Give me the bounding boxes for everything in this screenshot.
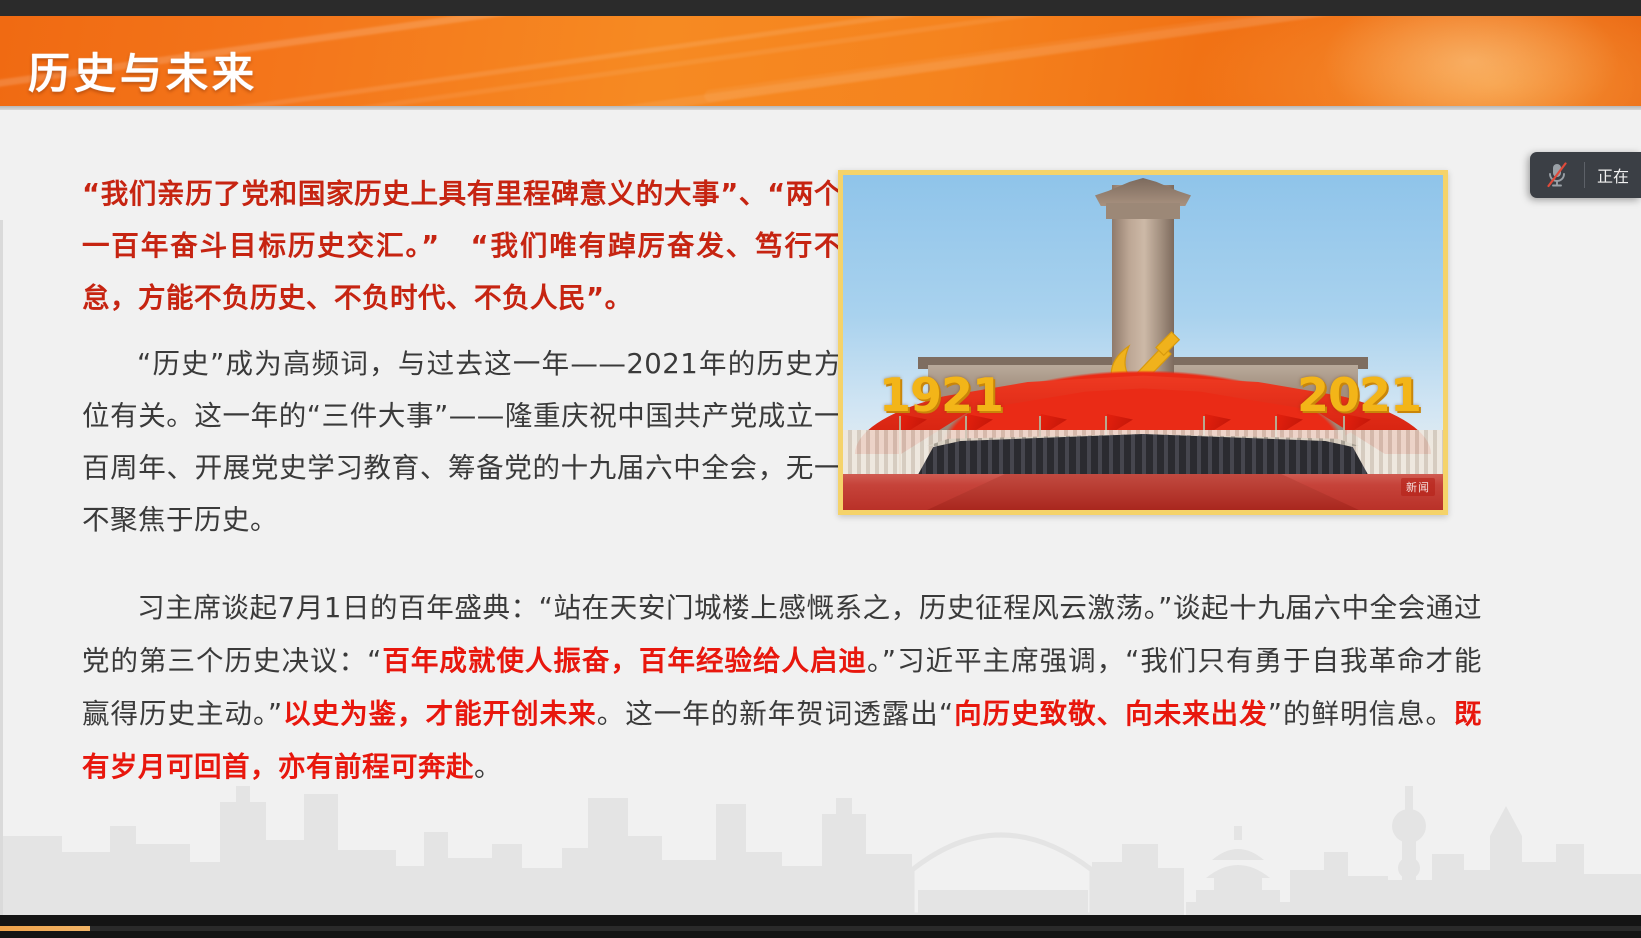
playback-progress-track[interactable] [0, 926, 1641, 931]
photo-monument-base [1106, 203, 1180, 219]
playback-progress-fill[interactable] [0, 926, 90, 931]
screen: 历史与未来 [0, 0, 1641, 938]
history-keyword-paragraph: “历史”成为高频词，与过去这一年——2021年的历史方位有关。这一年的“三件大事… [82, 338, 842, 546]
slide-left-edge [0, 220, 3, 915]
microphone-muted-icon[interactable] [1530, 152, 1584, 198]
quote-text: “我们亲历了党和国家历史上具有里程碑意义的大事”、“两个一百年奋斗目标历史交汇。… [82, 178, 842, 314]
centenary-ceremony-photo: 1921 2021 新闻 [838, 170, 1448, 515]
run-dark-3: 。这一年的新年贺词透露出“ [597, 698, 954, 730]
page-title: 历史与未来 [28, 40, 258, 101]
run-dark-5: 。 [474, 751, 502, 783]
quote-paragraph: “我们亲历了党和国家历史上具有里程碑意义的大事”、“两个一百年奋斗目标历史交汇。… [82, 168, 842, 324]
photo-year-2021: 2021 [1297, 368, 1421, 422]
window-top-chrome [0, 0, 1641, 16]
history-keyword-text: “历史”成为高频词，与过去这一年——2021年的历史方位有关。这一年的“三件大事… [82, 348, 842, 536]
photo-watermark: 新闻 [1401, 478, 1435, 496]
photo-year-1921: 1921 [879, 368, 1003, 422]
mic-muted-glyph [1546, 162, 1568, 188]
meeting-floating-toolbar[interactable]: 正在 [1530, 152, 1641, 198]
run-dark-4: ”的鲜明信息。 [1268, 698, 1454, 730]
run-red-2: 以史为鉴，才能开创未来 [283, 698, 597, 730]
run-red-1: 百年成就使人振奋，百年经验给人启迪 [382, 645, 867, 677]
toolbar-status-label[interactable]: 正在 [1585, 163, 1641, 187]
slide-title-banner: 历史与未来 [0, 16, 1641, 106]
centenary-paragraph: 习主席谈起7月1日的百年盛典：“站在天安门城楼上感慨系之，历史征程风云激荡。”谈… [82, 582, 1482, 794]
run-red-3: 向历史致敬、向未来出发 [954, 698, 1268, 730]
banner-glow-inner [1321, 16, 1621, 106]
slide-body: “我们亲历了党和国家历史上具有里程碑意义的大事”、“两个一百年奋斗目标历史交汇。… [0, 110, 1641, 915]
